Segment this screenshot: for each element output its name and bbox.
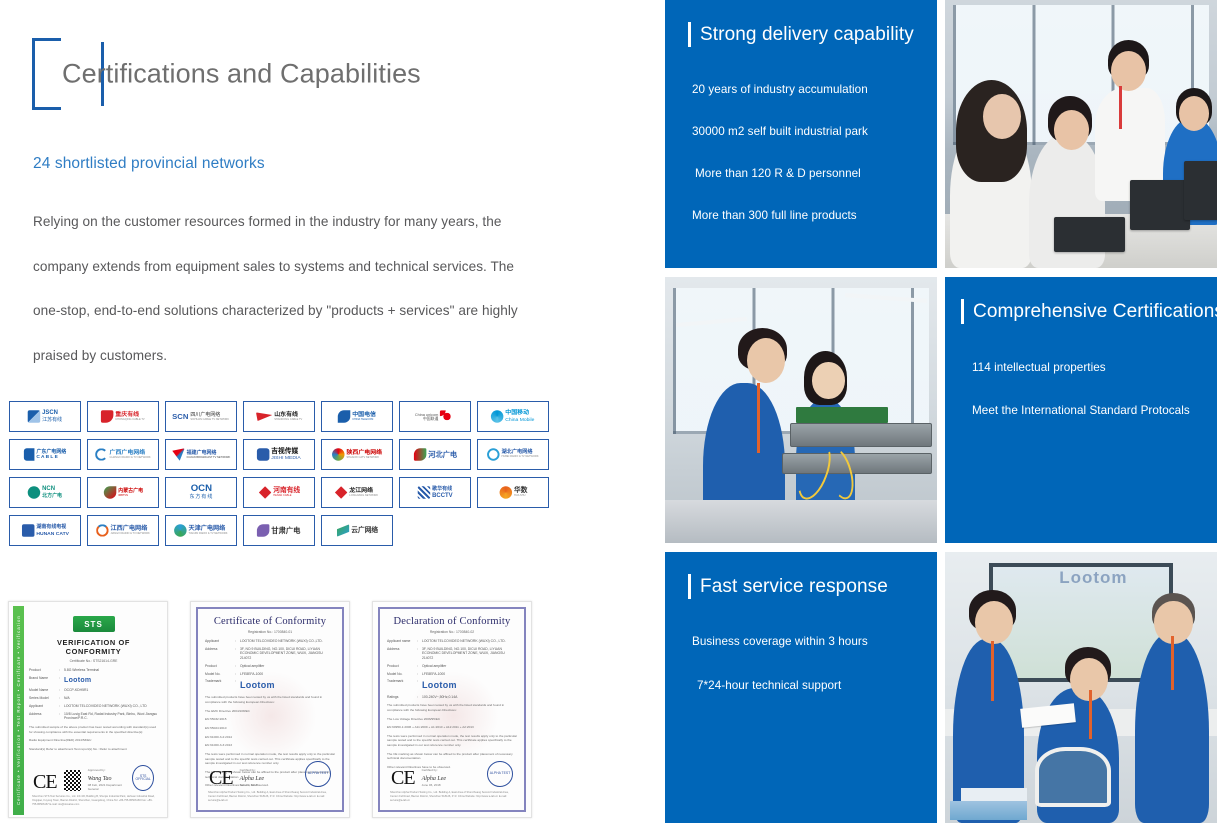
field-key: Trademark [205,679,235,683]
certificate-directive: The Low Voltage Directive 2006/95/EC [387,717,517,722]
approved-by-label: Approved by: [88,768,106,772]
partner-logo-grid: JSCN江苏有线 重庆有线CHONGQING CABLE TV SCN四川广电网… [9,401,569,553]
certificate-title: Declaration of Conformity [387,616,517,627]
certificate-field: Address:3F, NO.9 BUILDING, NO.100, DICUI… [387,647,517,661]
tile-item-list: Business coverage within 3 hours 7*24-ho… [692,635,937,692]
certificate-fields: Applicant:LOOTOM TELCOVIDEO NETWORK (WUX… [205,639,335,691]
tile-comprehensive-certifications: Comprehensive Certifications 114 intelle… [945,277,1217,543]
logo-mark-icon [487,448,499,460]
field-key: Address [387,647,417,651]
logo-mark-icon [491,410,503,422]
certificate-issuer-address: Shenzhen Alpha Product Testing Co., Ltd.… [387,791,517,803]
partner-logo-china-telecom[interactable]: 中国电信CHINA TELECOM [321,401,393,432]
tile-list-item: Meet the International Standard Protocal… [972,404,1217,417]
partner-logo-shandong-cable[interactable]: 山东有线SHANDONG CABLE TV [243,401,315,432]
logo-label: JSCN [42,411,62,417]
page-title: Certifications and Capabilities [62,59,421,90]
logo-row: JSCN江苏有线 重庆有线CHONGQING CABLE TV SCN四川广电网… [9,401,569,432]
logo-mark-icon [28,410,40,422]
certificate-field: Product:Optical amplifier [387,664,517,669]
partner-logo-bccty[interactable]: 歌华有线BCCTV [399,477,471,508]
field-key: Address [205,647,235,651]
lanyard-icon [991,641,994,701]
head-shape [1054,110,1089,150]
logo-row: 广东广电网络C A B L E 广西广电网络GUANGXI RADIO & TV… [9,439,569,470]
logo-mark-icon [257,524,269,536]
partner-logo-china-unicom[interactable]: China unicom中国联通 [399,401,471,432]
field-key: Model Name [29,688,59,692]
logo-sublabel: GUANGXI RADIO & TV NETWORK [110,456,151,459]
certificate-field: Product:Optical amplifier [205,664,335,669]
field-value: LFE8EFA-1000 [240,672,335,677]
logo-sublabel: HUNAN CATV [36,531,69,536]
signature-date: June 06, 2018 [422,783,447,787]
logo-mark-icon [418,486,430,498]
certificate-paragraph: The tests were performed in normal opera… [387,734,517,748]
certified-by-label: Certified by: [422,768,438,772]
certificate-of-conformity[interactable]: Certificate of Conformity Registration N… [190,601,350,818]
certificate-body: STS VERIFICATION OF CONFORMITY Certifica… [29,612,158,809]
photo-scene [665,277,937,543]
logo-sublabel: HUA SHU [513,495,526,498]
brochure-page: Certifications and Capabilities 24 short… [0,0,1217,823]
logo-label: 湖南有线电视 [36,526,69,531]
logo-sublabel: BCCTV [432,493,452,499]
field-key: Model No. [387,672,417,676]
equipment-rack [790,423,931,447]
field-key: Applicant name [387,639,417,643]
logo-mark-icon [256,412,272,421]
certificate-field: Ratings:100-240V~,50Hz,0.14A [387,695,517,700]
field-value: 10/8 Lusig East Rd, Radat Industry Park,… [64,712,158,721]
tile-list-item: 114 intellectual properties [972,361,1217,374]
certificate-title: Certificate of Conformity [205,616,335,627]
field-value: 100-240V~,50Hz,0.14A [422,695,517,700]
certificate-field: Applicant:LOOTOM TELCOVIDEO NETWORK (WUX… [29,704,158,709]
logo-mark-icon [28,486,40,498]
tile-list-item: Business coverage within 3 hours [692,635,937,648]
field-value: Optical amplifier [422,664,517,669]
lanyard-icon [1089,690,1092,739]
brand-logo-text: Lootom [240,679,335,691]
lanyard-icon [757,383,760,452]
official-stamp-icon: ALPHA TEST [487,761,513,787]
partner-logo-guangdong-cable[interactable]: 广东广电网络C A B L E [9,439,81,470]
logo-sublabel: C A B L E [36,455,66,460]
logo-sublabel: SHAANXI CATV NETWORK [346,456,382,459]
logo-label: 吉视传媒 [272,448,301,455]
certificate-field: Trademark:Lootom [205,679,335,691]
partner-logo-hunan-caty[interactable]: 湖南有线电视HUNAN CATV [9,515,81,546]
section-subheading: 24 shortlisted provincial networks [33,155,265,173]
tile-title: Strong delivery capability [700,24,914,46]
laptop-icon [1184,161,1217,220]
logo-mark-icon [413,448,425,460]
photo-technicians-assembling-equipment [665,277,937,543]
partner-logo-hebei-radiotv[interactable]: 河北广电 [399,439,471,470]
qr-code-icon [64,770,81,791]
tile-list-item: 20 years of industry accumulation [692,83,937,96]
approval-block: Approved by: Wang Tao 08 Feb, 2021 Depar… [88,758,126,791]
partner-logo-yunguang-network[interactable]: 云广网络 [321,515,393,546]
left-content-column: Certifications and Capabilities 24 short… [0,0,660,823]
head-shape [812,362,845,399]
logo-mark-icon [101,410,113,422]
office-chair-icon [1035,747,1111,807]
partner-logo-longjiang-network[interactable]: 龙江网络LONGJIANG NETWORK [321,477,393,508]
logo-mark-icon [172,448,184,460]
logo-label: OCN [190,485,211,495]
partner-logo-tianjin-radiotv[interactable]: 天津广电网络TIANJIN RADIO & TV NETWORK [165,515,237,546]
logo-label: 中国移动 [506,411,535,417]
ce-mark-icon: CE [391,769,415,787]
accent-bar-icon [961,299,964,324]
field-value: LFE8EFA-1000 [422,672,517,677]
certificate-field: Model Name:OCCP-KDH5R1 [29,688,158,693]
certificate-paragraph: The submitted sample of the above produc… [29,725,158,734]
certificate-field: Brand Name:Lootom [29,676,158,685]
partner-logo-hubei-radiotv[interactable]: 湖北广电网络HUBEI RADIO & TV NETWORK [477,439,549,470]
logo-mark-icon [96,524,108,536]
field-key: Address [29,712,59,716]
logo-mark-icon [335,486,347,498]
certificate-body: Declaration of Conformity Registration N… [387,616,517,805]
certificate-sidebar-text: Certificate • Verification • Test Report… [13,606,24,815]
logo-caption: SICHUAN CABLE TV NETWORK [191,418,230,421]
folder-stack-icon [950,801,1026,820]
ce-mark-icon: CE [209,769,233,787]
approval-block: Certified by: Alpha Lee June 06, 2018 [422,758,447,787]
field-key: Product [29,668,59,672]
field-value: N/A [64,696,158,701]
head-shape [975,601,1013,644]
tile-list-item: 30000 m2 self built industrial park [692,125,937,138]
tile-header: Strong delivery capability [688,22,937,47]
tile-title: Comprehensive Certifications [973,301,1217,323]
certificate-field: Model No.:LFE8EFA-1000 [387,672,517,677]
logo-mark-icon [95,448,107,460]
tile-header: Comprehensive Certifications [961,299,1217,324]
certificate-standards: Standard(s) Refer to attachment Test rep… [29,747,158,752]
photo-scene: Lootom [945,552,1217,823]
tile-list-item: More than 300 full line products [692,209,937,222]
field-key: Series Model [29,696,59,700]
partner-logo-chongqing-cable[interactable]: 重庆有线CHONGQING CABLE TV [87,401,159,432]
certificate-registration: Registration No.: 1700840-01 [205,630,335,634]
certificate-fields: Applicant name:LOOTOM TELCOVIDEO NETWORK… [387,639,517,699]
field-value: 3F, NO.9 BUILDING, NO.100, DICUI ROAD, L… [240,647,335,661]
lanyard-icon [1171,636,1174,690]
certificate-field: Applicant:LOOTOM TELCOVIDEO NETWORK (WUX… [205,639,335,644]
partner-logo-henan-cable[interactable]: 河南有线HENAN CABLE [243,477,315,508]
field-value: LOOTOM TELCOVIDEO NETWORK (WUXI) CO., LT… [422,639,517,644]
signature-date: 08 Feb, 2021 Department General [88,783,126,791]
head-shape [1179,96,1209,131]
certificate-body: Certificate of Conformity Registration N… [205,616,335,805]
logo-label: 甘肃广电 [272,527,301,534]
field-key: Product [387,664,417,668]
certificate-footer: CE Approved by: Wang Tao 08 Feb, 2021 De… [29,758,158,807]
field-key: Applicant [29,704,59,708]
ce-mark-icon: CE [33,773,57,791]
certificate-signature-row: CE Approved by: Wang Tao 08 Feb, 2021 De… [29,758,158,791]
certificate-paragraph: The submitted products have been tested … [205,695,335,704]
logo-sublabel: 江苏有线 [42,417,62,422]
logo-mark-icon [22,524,34,536]
logo-mark-icon [103,486,115,498]
section-body-text: Relying on the customer resources formed… [33,200,533,378]
partner-logo-guangxi-radiotv[interactable]: 广西广电网络GUANGXI RADIO & TV NETWORK [87,439,159,470]
tile-strong-delivery-capability: Strong delivery capability 20 years of i… [665,0,937,268]
partner-logo-imbtvn[interactable]: 内蒙古广电IMBTVN [87,477,159,508]
tile-item-list: 114 intellectual properties Meet the Int… [972,361,1217,417]
certificate-footer: CE Certified by: Alpha Lee Feb 16, 2018 … [205,758,335,803]
field-key: Product [205,664,235,668]
partner-logo-shaanxi-catv[interactable]: 陕西广电网络SHAANXI CATV NETWORK [321,439,393,470]
logo-mark-icon [24,448,35,460]
head-shape [747,338,785,383]
photo-engineers-at-computers [945,0,1217,268]
right-tile-grid: Strong delivery capability 20 years of i… [665,0,1217,823]
page-title-row: Certifications and Capabilities [32,38,104,110]
signature-text: Alpha Lee [240,776,265,782]
certificate-issuer-address: Shenzhen STS Test Services Co., Ltd. 1/F… [29,795,158,807]
logo-sublabel: China Mobile [506,417,535,422]
laptop-icon [1130,180,1190,231]
partner-logo-jiangxi-radiotv[interactable]: 江西广电网络JIANGXI RADIO & TV NETWORK [87,515,159,546]
partner-logo-gansu-radiotv[interactable]: 甘肃广电 [243,515,315,546]
logo-mark-icon [258,486,270,498]
certificate-signature-row: CE Certified by: Alpha Lee Feb 16, 2018 … [205,758,335,787]
official-stamp-icon: ALPHA TEST [305,761,331,787]
certificate-field: Address:10/8 Lusig East Rd, Radat Indust… [29,712,158,721]
partner-logo-fujian-broadcast[interactable]: 福建广电网络FUJIAN BROADCAST TV NETWORK [165,439,237,470]
logo-sublabel: IMBTVN [118,494,143,497]
tile-list-item: More than 120 R & D personnel [695,167,937,180]
field-value: Optical amplifier [240,664,335,669]
logo-label: 河北广电 [428,451,457,458]
partner-logo-ncn[interactable]: NCN北方广电 [9,477,81,508]
certificate-verification-of-conformity[interactable]: Certificate • Verification • Test Report… [8,601,168,818]
logo-sublabel: 中国联通 [423,417,438,421]
signature-date: Feb 16, 2018 [240,783,265,787]
company-sign-text: Lootom [1059,568,1127,588]
field-value: LOOTOM TELCOVIDEO NETWORK (WUXI) CO., LT… [64,704,158,709]
logo-sublabel: TIANJIN RADIO & TV NETWORK [189,533,228,536]
certificate-fields: Product:5.8G Wireless Terminal Brand Nam… [29,668,158,721]
certificate-standard: EN 60950-1:2006 + A11:2009 + A1:2010 + A… [387,725,517,730]
certificate-paragraph: The submitted products have been tested … [387,703,517,712]
certificate-images: Certificate • Verification • Test Report… [8,601,532,818]
brand-logo-text: Lootom [422,679,517,691]
logo-sublabel: CHINA TELECOM [352,418,376,421]
field-key: Applicant [205,639,235,643]
logo-row: NCN北方广电 内蒙古广电IMBTVN OCN东方有线 河南有线HENAN CA… [9,477,569,508]
tile-list-item: 7*24-hour technical support [697,679,937,692]
workbench [665,500,937,543]
declaration-of-conformity[interactable]: Declaration of Conformity Registration N… [372,601,532,818]
accent-bar-icon [688,22,691,47]
logo-sublabel: HENAN CABLE [273,495,300,498]
field-value: OCCP-KDH5R1 [64,688,158,693]
logo-mark-icon [336,524,348,536]
certificate-signature-row: CE Certified by: Alpha Lee June 06, 2018… [387,758,517,787]
certificate-directive: The EMC Directive 2004/108/EC [205,709,335,714]
head-shape [1111,51,1146,91]
logo-label: NCN [42,487,62,493]
partner-logo-china-mobile[interactable]: 中国移动China Mobile [477,401,549,432]
certificate-footer: CE Certified by: Alpha Lee June 06, 2018… [387,758,517,803]
certificate-registration: Certificate No.: STS21614-GRE [29,659,158,663]
certificate-field: Product:5.8G Wireless Terminal [29,668,158,673]
field-key: Model No. [205,672,235,676]
tile-header: Fast service response [688,574,937,599]
accent-bar-icon [688,574,691,599]
laptop-icon [1054,217,1125,252]
certificate-field: Applicant name:LOOTOM TELCOVIDEO NETWORK… [387,639,517,644]
logo-sublabel: LONGJIANG NETWORK [350,494,379,497]
signature-text: Alpha Lee [422,776,447,782]
logo-sublabel: FUJIAN BROADCAST TV NETWORK [186,456,230,459]
partner-logo-huashu[interactable]: 华数HUA SHU [477,477,549,508]
partner-logo-ocn[interactable]: OCN东方有线 [165,477,237,508]
field-key: Brand Name [29,676,59,680]
certificate-standard: EN 61000-3-2:2014 [205,735,335,740]
field-value: LOOTOM TELCOVIDEO NETWORK (WUXI) CO.,LTD… [240,639,335,644]
partner-logo-jishi-media[interactable]: 吉视传媒JISHI MEDIA [243,439,315,470]
certificate-directive: Radio Equipment Directive(RED) 2014/53/E… [29,738,158,743]
logo-mark-icon [332,448,344,460]
logo-label: 云广网络 [351,527,378,534]
logo-label: SCN [173,413,189,421]
logo-sublabel: SHANDONG CABLE TV [274,418,302,421]
pcb-board-icon [796,407,888,423]
field-key: Ratings [387,695,417,699]
logo-sublabel: JISHI MEDIA [272,456,301,461]
certificate-field: Model No.:LFE8EFA-1000 [205,672,335,677]
official-stamp-icon: STS OFFICIAL [132,765,154,791]
brand-logo-text: Lootom [64,676,158,685]
logo-sublabel: HUBEI RADIO & TV NETWORK [502,456,539,459]
tile-fast-service-response: Fast service response Business coverage … [665,552,937,823]
tile-title: Fast service response [700,576,888,598]
certified-by-label: Certified by: [240,768,256,772]
certificate-field: Address:3F, NO.9 BUILDING, NO.100, DICUI… [205,647,335,661]
logo-sublabel: 东方有线 [189,495,213,500]
certificate-standard: EN 55032:2015 [205,717,335,722]
photo-staff-reviewing-documents: Lootom [945,552,1217,823]
signature-text: Wang Tao [88,776,126,782]
logo-mark-icon [174,524,186,536]
logo-mark-icon [441,410,455,422]
tile-item-list: 20 years of industry accumulation 30000 … [692,83,937,222]
sts-logo-icon: STS [73,616,115,632]
certificate-registration: Registration No.: 1700840-02 [387,630,517,634]
logo-sublabel: CHONGQING CABLE TV [116,418,145,421]
approval-block: Certified by: Alpha Lee Feb 16, 2018 [240,758,265,787]
certificate-issuer-address: Shenzhen Alpha Product Testing Co., Ltd.… [205,791,335,803]
logo-sublabel: 北方广电 [42,493,62,498]
certificate-field: Series Model:N/A [29,696,158,701]
photo-scene [945,0,1217,268]
partner-logo-scn[interactable]: SCN四川广电网络SICHUAN CABLE TV NETWORK [165,401,237,432]
certificate-standard: EN 61000-3-3:2013 [205,743,335,748]
lanyard-icon [1119,86,1122,129]
logo-mark-icon [257,448,269,460]
partner-logo-jscn[interactable]: JSCN江苏有线 [9,401,81,432]
folder-stack-icon [961,788,1026,802]
certificate-field: Trademark:Lootom [387,679,517,691]
certificate-title: VERIFICATION OF CONFORMITY [29,638,158,656]
logo-sublabel: JIANGXI RADIO & TV NETWORK [111,533,150,536]
field-key: Trademark [387,679,417,683]
logo-mark-icon [338,410,350,422]
logo-row: 湖南有线电视HUNAN CATV 江西广电网络JIANGXI RADIO & T… [9,515,569,546]
field-value: 3F, NO.9 BUILDING, NO.100, DICUI ROAD, L… [422,647,517,661]
field-value: 5.8G Wireless Terminal [64,668,158,673]
certificate-standard: EN 55024:2010 [205,726,335,731]
logo-mark-icon [499,486,511,498]
